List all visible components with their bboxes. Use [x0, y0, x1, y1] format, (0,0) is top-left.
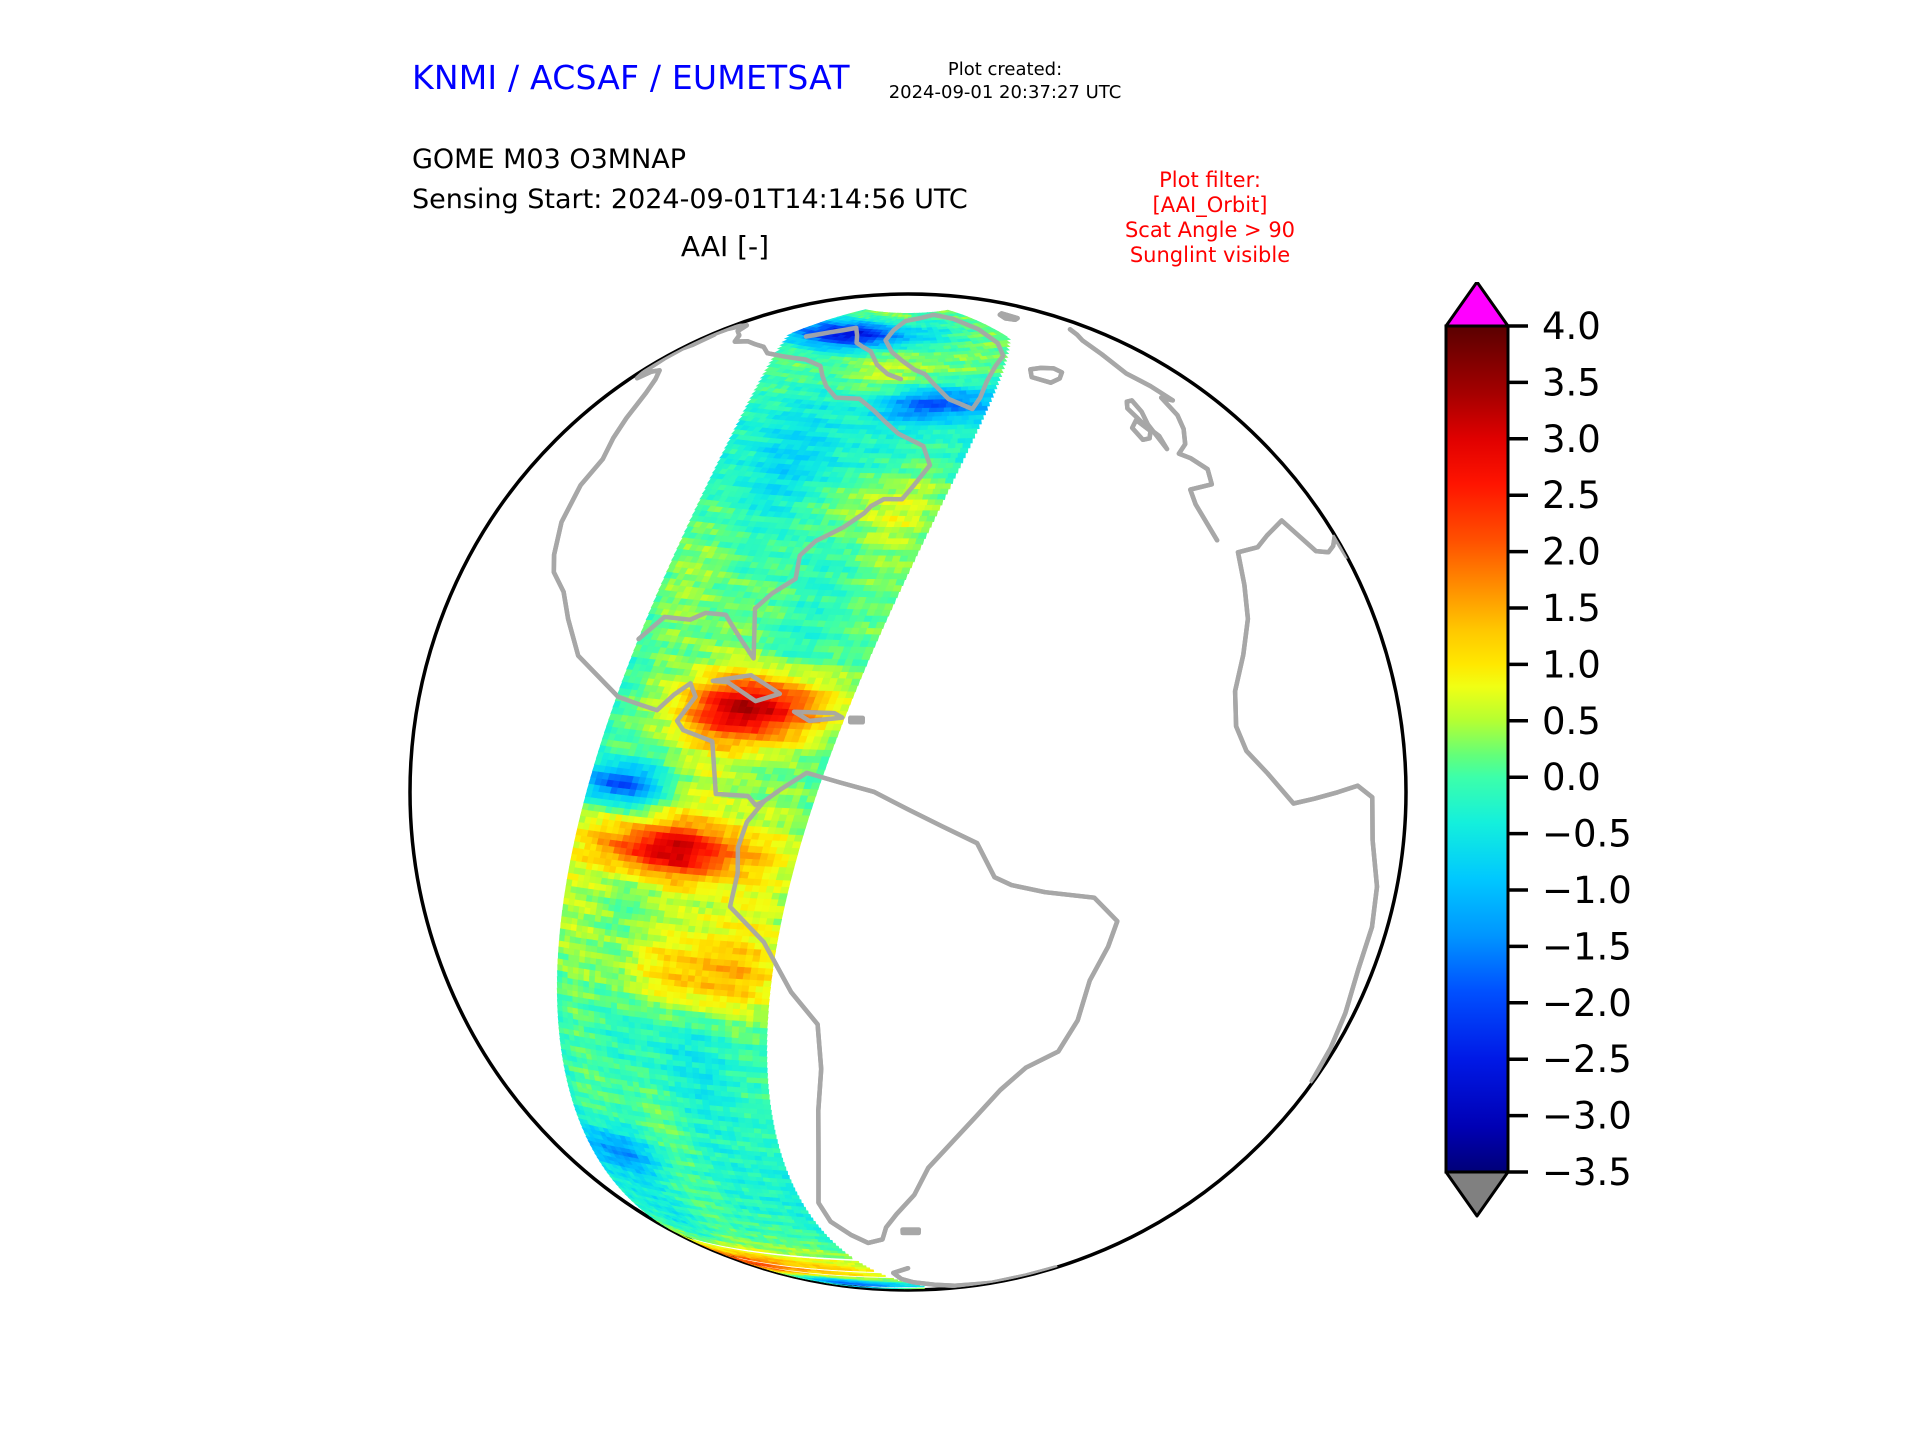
swath-pixel — [565, 936, 571, 943]
swath-pixel — [953, 448, 961, 453]
swath-pixel — [725, 1043, 732, 1049]
swath-pixel — [584, 914, 590, 921]
swath-pixel — [935, 425, 943, 430]
swath-pixel — [693, 994, 700, 1000]
swath-pixel — [636, 982, 643, 989]
swath-pixel — [706, 1007, 713, 1013]
swath-pixel — [711, 1036, 718, 1042]
swath-pixel — [948, 458, 956, 463]
swath-pixel — [927, 412, 935, 416]
swath-pixel — [634, 939, 641, 946]
swath-pixel — [950, 468, 958, 473]
swath-pixel — [606, 984, 612, 991]
swath-pixel — [915, 421, 923, 426]
swath-pixel — [761, 1011, 769, 1017]
swath-pixel — [621, 950, 628, 957]
swath-pixel — [964, 379, 972, 383]
swath-pixel — [583, 920, 589, 927]
swath-pixel — [938, 479, 946, 484]
swath-pixel — [890, 366, 899, 370]
swath-pixel — [709, 971, 717, 978]
swath-pixel — [930, 392, 938, 396]
swath-pixel — [916, 435, 924, 440]
swath-pixel — [712, 1025, 719, 1031]
swath-pixel — [606, 923, 613, 930]
swath-pixel — [728, 979, 736, 985]
swath-pixel — [680, 993, 687, 1000]
swath-pixel — [582, 926, 588, 933]
swath-pixel — [892, 347, 901, 350]
swath-pixel — [638, 958, 645, 965]
swath-pixel — [931, 435, 939, 440]
swath-pixel — [585, 957, 591, 964]
swath-pixel — [970, 429, 977, 434]
swath-pixel — [905, 426, 914, 431]
swath-pixel — [955, 429, 962, 434]
swath-pixel — [788, 855, 797, 862]
swath-pixel — [931, 449, 939, 454]
swath-pixel — [726, 1014, 734, 1020]
swath-pixel — [695, 976, 703, 983]
swath-pixel — [923, 479, 931, 484]
swath-pixel — [653, 1025, 659, 1031]
swath-pixel — [653, 1042, 659, 1048]
swath-pixel — [911, 384, 919, 388]
swath-pixel — [660, 1026, 666, 1032]
swath-pixel — [936, 380, 944, 384]
swath-pixel — [933, 459, 941, 464]
swath-pixel — [905, 331, 911, 334]
swath-pixel — [896, 580, 905, 586]
swath-pixel — [739, 1021, 747, 1027]
swath-pixel — [617, 925, 624, 932]
swath-pixel — [642, 989, 649, 996]
swath-pixel — [713, 1070, 720, 1076]
swath-pixel — [809, 790, 818, 797]
swath-pixel — [907, 408, 916, 412]
swath-pixel — [936, 454, 944, 459]
swath-pixel — [580, 950, 586, 957]
swath-pixel — [951, 453, 959, 458]
swath-pixel — [684, 951, 692, 958]
swath-pixel — [681, 981, 688, 988]
swath-pixel — [661, 991, 668, 998]
swath-pixel — [746, 1039, 754, 1045]
swath-pixel — [921, 380, 929, 384]
swath-pixel — [717, 960, 725, 967]
swath-pixel — [924, 505, 933, 511]
swath-pixel — [685, 1051, 692, 1057]
swath-pixel — [902, 417, 911, 421]
swath-pixel — [890, 592, 899, 598]
swath-pixel — [935, 396, 943, 400]
swath-pixel — [586, 939, 592, 946]
swath-pixel — [779, 894, 788, 901]
swath-pixel — [718, 1031, 725, 1037]
swath-pixel — [570, 937, 576, 944]
swath-pixel — [623, 1016, 629, 1022]
swath-pixel — [641, 1035, 647, 1041]
swath-pixel — [967, 420, 974, 425]
swath-pixel — [938, 449, 946, 454]
swath-pixel — [612, 979, 618, 986]
swath-pixel — [746, 1050, 754, 1056]
swath-pixel — [679, 1028, 686, 1034]
swath-pixel — [942, 365, 950, 369]
swath-pixel — [682, 969, 689, 976]
swath-pixel — [774, 913, 783, 920]
swath-pixel — [619, 968, 625, 975]
swath-pixel — [600, 995, 606, 1002]
swath-pixel — [760, 1028, 768, 1034]
swath-pixel — [697, 958, 705, 965]
swath-pixel — [715, 972, 723, 979]
swath-pixel — [897, 413, 906, 417]
swath-pixel — [559, 935, 565, 942]
swath-pixel — [597, 953, 603, 960]
swath-pixel — [704, 952, 712, 959]
swath-pixel — [741, 992, 749, 998]
swath-pixel — [569, 943, 575, 950]
swath-pixel — [725, 1026, 732, 1032]
swath-pixel — [924, 359, 932, 363]
swath-pixel — [726, 1071, 733, 1077]
swath-pixel — [785, 868, 794, 875]
swath-pixel — [720, 1076, 727, 1082]
swath-pixel — [920, 413, 928, 417]
swath-pixel — [985, 393, 993, 398]
swath-pixel — [946, 403, 953, 408]
swath-pixel — [938, 376, 945, 380]
swath-pixel — [701, 977, 709, 984]
swath-pixel — [740, 1010, 748, 1016]
swath-pixel — [685, 1045, 692, 1051]
swath-pixel — [660, 1037, 666, 1043]
swath-pixel — [917, 388, 925, 392]
swath-pixel — [641, 1029, 647, 1035]
swath-pixel — [903, 338, 910, 341]
swath-pixel — [705, 1013, 712, 1019]
swath-pixel — [959, 375, 967, 379]
swath-pixel — [921, 350, 929, 353]
swath-pixel — [760, 1057, 768, 1063]
swath-pixel — [933, 430, 941, 435]
swath-pixel — [941, 384, 948, 388]
swath-pixel — [659, 942, 666, 949]
swath-pixel — [911, 331, 917, 334]
swath-pixel — [596, 959, 602, 966]
swath-pixel — [918, 400, 926, 404]
swath-pixel — [706, 1001, 713, 1007]
swath-pixel — [899, 331, 906, 334]
swath-pixel — [579, 956, 585, 963]
swath-pixel — [950, 425, 958, 430]
swath-pixel — [699, 1063, 706, 1069]
swath-pixel — [686, 1005, 693, 1011]
swath-pixel — [696, 964, 704, 971]
swath-pixel — [950, 365, 958, 369]
swath-pixel — [648, 996, 655, 1003]
swath-pixel — [939, 373, 947, 377]
swath-pixel — [898, 366, 906, 370]
swath-pixel — [960, 420, 967, 425]
swath-pixel — [699, 1001, 706, 1007]
plot-created-timestamp: 2024-09-01 20:37:27 UTC — [845, 81, 1165, 104]
swath-pixel — [762, 993, 770, 999]
swath-pixel — [961, 387, 969, 391]
swath-pixel — [693, 1000, 700, 1006]
swath-pixel — [687, 982, 694, 989]
swath-pixel — [760, 1034, 768, 1040]
swath-pixel — [932, 373, 940, 377]
swath-pixel — [635, 1000, 641, 1007]
swath-pixel — [928, 396, 936, 400]
swath-pixel — [897, 336, 904, 339]
swath-pixel — [912, 353, 920, 356]
swath-pixel — [702, 971, 710, 978]
swath-pixel — [618, 992, 624, 999]
swath-pixel — [927, 500, 936, 506]
swath-pixel — [739, 1027, 747, 1033]
swath-pixel — [962, 416, 969, 421]
swath-pixel — [722, 978, 730, 985]
swath-pixel — [699, 1058, 706, 1064]
swath-pixel — [618, 974, 624, 981]
swath-pixel — [617, 1003, 623, 1010]
swath-pixel — [957, 425, 964, 430]
swath-pixel — [651, 960, 658, 967]
swath-pixel — [756, 981, 764, 987]
swath-pixel — [794, 835, 803, 842]
swath-pixel — [959, 391, 967, 395]
swath-pixel — [649, 972, 656, 979]
swath-pixel — [930, 362, 938, 366]
swath-pixel — [928, 439, 936, 444]
swath-pixel — [943, 380, 951, 384]
swath-pixel — [617, 998, 623, 1005]
swath-pixel — [706, 1064, 713, 1070]
swath-pixel — [629, 999, 635, 1006]
swath-pixel — [615, 943, 622, 950]
swath-pixel — [792, 842, 801, 849]
swath-pixel — [712, 1013, 719, 1019]
swath-pixel — [746, 1045, 754, 1051]
swath-pixel — [992, 377, 1001, 381]
swath-pixel — [681, 1077, 688, 1083]
swath-pixel — [962, 429, 969, 434]
swath-pixel — [698, 1052, 705, 1058]
swath-pixel — [719, 1008, 727, 1014]
swath-pixel — [740, 1072, 747, 1078]
swath-pixel — [677, 956, 684, 963]
swath-pixel — [618, 980, 624, 987]
swath-pixel — [726, 1076, 733, 1082]
swath-pixel — [685, 1023, 692, 1029]
swath-pixel — [625, 963, 632, 970]
swath-pixel — [969, 415, 977, 420]
swath-pixel — [698, 1018, 705, 1024]
swath-pixel — [719, 1020, 726, 1026]
swath-pixel — [574, 956, 580, 963]
swath-pixel — [906, 326, 911, 328]
swath-pixel — [698, 1030, 705, 1036]
swath-pixel — [909, 341, 917, 344]
swath-pixel — [719, 1002, 727, 1008]
swath-pixel — [629, 1039, 635, 1045]
swath-pixel — [611, 930, 618, 937]
swath-pixel — [918, 459, 927, 464]
swath-pixel — [960, 434, 967, 439]
swath-pixel — [666, 1038, 672, 1044]
swath-pixel — [938, 359, 946, 363]
swath-pixel — [709, 965, 717, 972]
swath-pixel — [602, 910, 609, 917]
swath-pixel — [660, 1048, 667, 1054]
swath-pixel — [705, 1041, 712, 1047]
swath-pixel — [628, 939, 635, 946]
swath-pixel — [909, 388, 917, 392]
swath-pixel — [903, 356, 911, 359]
swath-pixel — [679, 1033, 686, 1039]
swath-pixel — [963, 399, 971, 404]
swath-pixel — [913, 350, 921, 353]
swath-pixel — [641, 1006, 647, 1013]
swath-pixel — [910, 550, 919, 556]
swath-pixel — [655, 978, 662, 985]
swath-pixel — [676, 962, 683, 969]
swath-pixel — [606, 1002, 612, 1009]
swath-pixel — [681, 975, 688, 982]
swath-pixel — [746, 1022, 754, 1028]
swath-pixel — [629, 1016, 635, 1023]
swath-pixel — [912, 323, 917, 325]
swath-pixel — [675, 974, 682, 981]
swath-pixel — [750, 974, 758, 981]
swath-pixel — [653, 1031, 659, 1037]
swath-pixel — [667, 998, 674, 1005]
swath-pixel — [633, 952, 640, 959]
swath-pixel — [950, 439, 958, 444]
swath-pixel — [617, 931, 624, 938]
swath-pixel — [698, 1047, 705, 1053]
swath-pixel — [759, 1051, 767, 1057]
swath-pixel — [644, 959, 651, 966]
swath-pixel — [638, 964, 645, 971]
swath-pixel — [612, 997, 618, 1004]
swath-pixel — [651, 954, 658, 961]
swath-pixel — [951, 408, 958, 413]
swath-pixel — [606, 979, 612, 986]
swath-pixel — [910, 430, 918, 435]
swath-pixel — [692, 1057, 699, 1063]
swath-pixel — [761, 1078, 768, 1084]
swath-pixel — [647, 1030, 653, 1036]
swath-pixel — [653, 1019, 659, 1025]
swath-pixel — [760, 1073, 767, 1079]
swath-pixel — [910, 417, 919, 422]
swath-pixel — [679, 1005, 686, 1011]
swath-pixel — [747, 998, 755, 1004]
swath-pixel — [948, 430, 956, 435]
swath-pixel — [893, 344, 902, 347]
swath-pixel — [917, 417, 925, 421]
swath-pixel — [575, 944, 581, 951]
swath-pixel — [666, 1009, 673, 1015]
swath-pixel — [735, 985, 743, 992]
swath-pixel — [692, 1012, 699, 1018]
swath-pixel — [630, 976, 637, 983]
swath-pixel — [589, 976, 595, 983]
swath-pixel — [683, 957, 691, 964]
swath-pixel — [595, 916, 602, 923]
swath-pixel — [825, 744, 834, 751]
swath-pixel — [746, 1061, 753, 1067]
swath-pixel — [718, 1037, 725, 1043]
swath-pixel — [920, 484, 929, 489]
swath-pixel — [607, 973, 613, 980]
swath-pixel — [670, 956, 677, 963]
swath-pixel — [950, 380, 958, 384]
swath-pixel — [930, 479, 938, 484]
swath-pixel — [672, 1044, 679, 1050]
swath-pixel — [904, 370, 912, 374]
swath-pixel — [700, 1074, 707, 1080]
swath-pixel — [673, 1004, 680, 1011]
swath-pixel — [726, 1009, 734, 1015]
swath-pixel — [752, 1039, 760, 1045]
swath-pixel — [932, 505, 940, 511]
swath-pixel — [972, 424, 980, 429]
swath-pixel — [654, 990, 661, 997]
swath-pixel — [648, 984, 655, 991]
swath-pixel — [732, 1044, 739, 1050]
swath-pixel — [708, 977, 716, 984]
swath-pixel — [624, 981, 630, 988]
swath-pixel — [922, 408, 930, 412]
swath-pixel — [610, 936, 617, 943]
swath-pixel — [736, 973, 744, 980]
swath-pixel — [955, 416, 962, 421]
swath-pixel — [925, 430, 933, 435]
swath-pixel — [965, 395, 973, 399]
swath-pixel — [735, 979, 743, 986]
swath-pixel — [928, 366, 935, 370]
swath-pixel — [982, 402, 990, 407]
swath-pixel — [687, 988, 694, 995]
swath-pixel — [680, 1067, 687, 1073]
swath-pixel — [933, 474, 941, 479]
swath-pixel — [947, 416, 955, 421]
swath-pixel — [958, 453, 966, 458]
swath-pixel — [763, 981, 771, 987]
swath-pixel — [898, 333, 905, 336]
swath-pixel — [748, 992, 756, 998]
swath-pixel — [761, 1005, 769, 1011]
swath-pixel — [732, 1060, 739, 1066]
swath-pixel — [934, 412, 942, 417]
swath-pixel — [796, 829, 805, 836]
swath-pixel — [685, 1017, 692, 1023]
swath-pixel — [740, 998, 748, 1004]
swath-pixel — [940, 355, 948, 359]
swath-pixel — [660, 1043, 666, 1049]
swath-pixel — [718, 1043, 725, 1049]
swath-pixel — [707, 1080, 714, 1086]
swath-pixel — [705, 1024, 712, 1030]
swath-pixel — [760, 1017, 768, 1023]
swath-pixel — [746, 1033, 754, 1039]
swath-pixel — [948, 369, 956, 373]
